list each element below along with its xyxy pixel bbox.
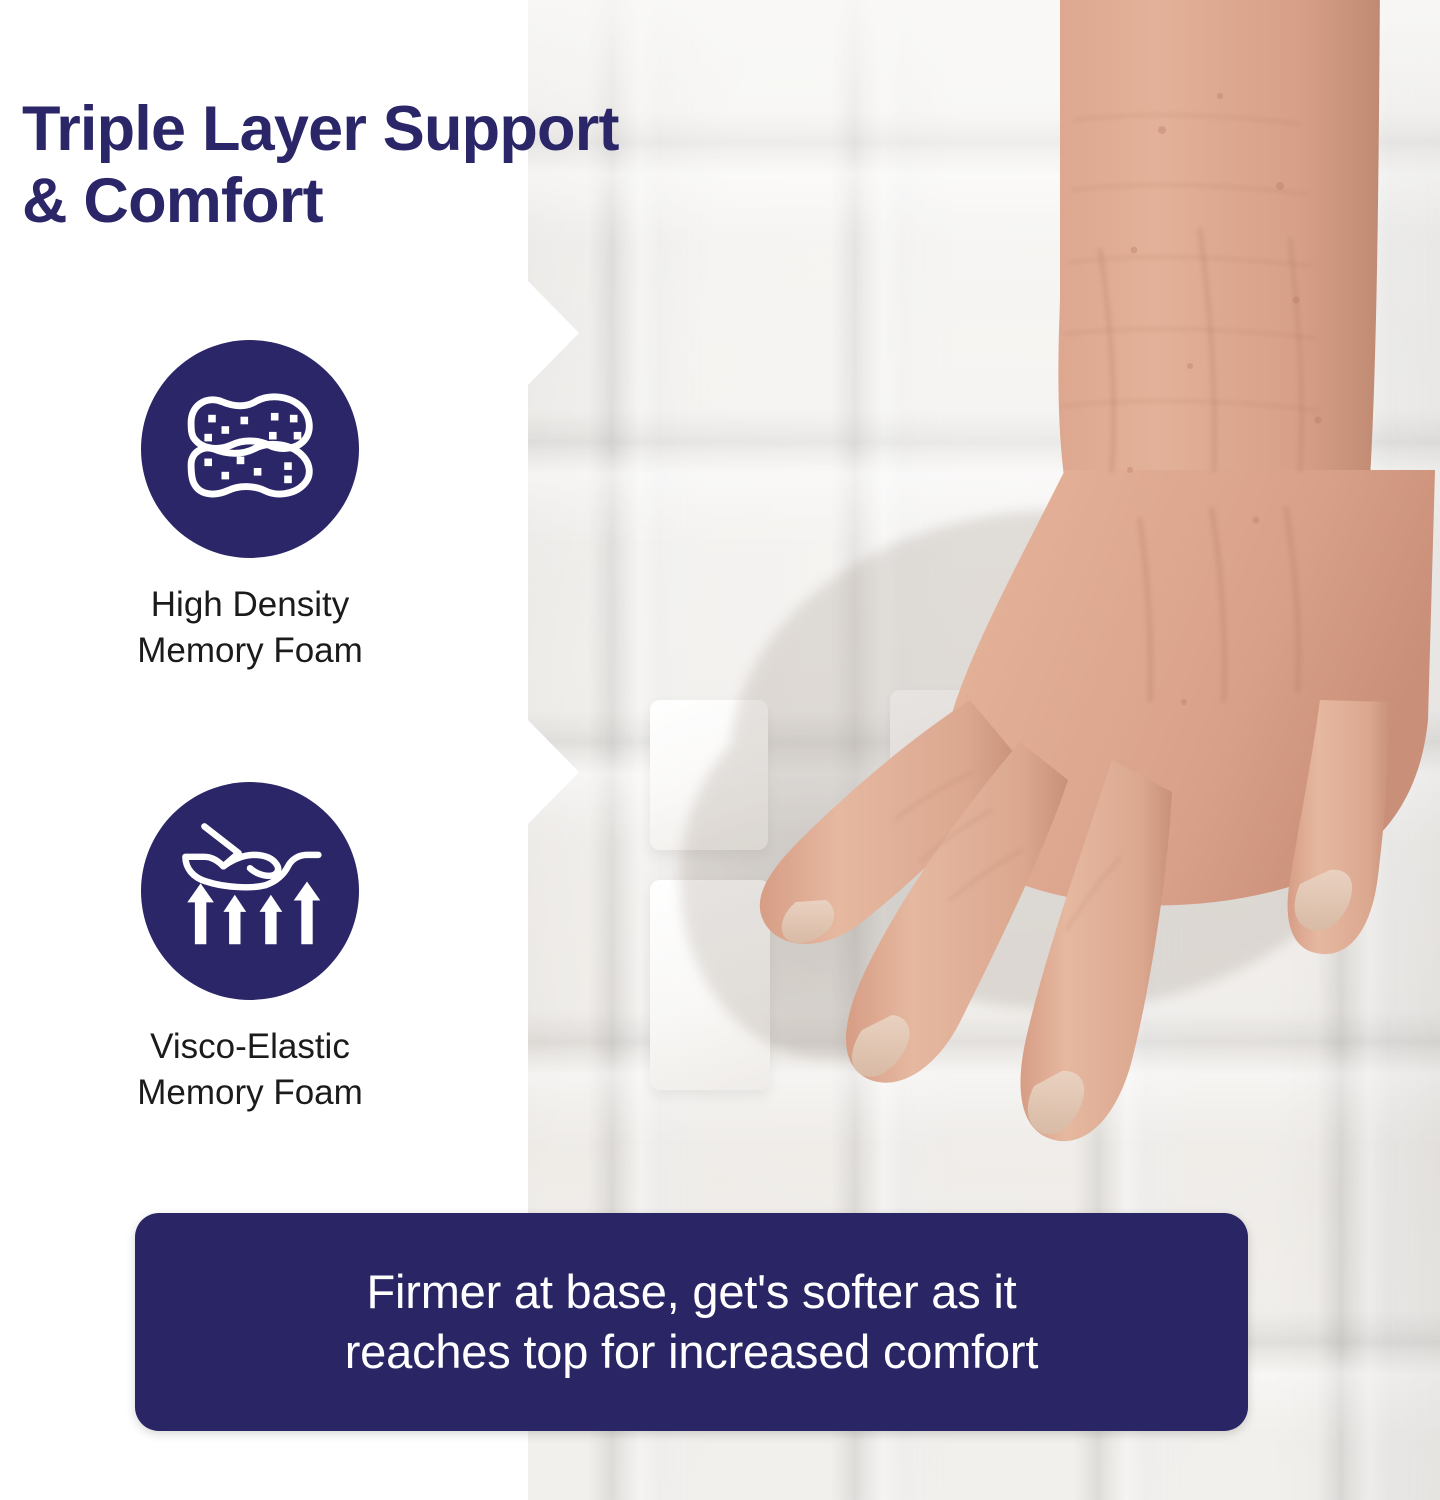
feature-label: Visco-Elastic Memory Foam <box>0 1024 500 1116</box>
page-title: Triple Layer Support & Comfort <box>22 94 922 238</box>
hand-support-arrows-glyph <box>155 796 345 986</box>
marketing-infographic: Triple Layer Support & Comfort <box>0 0 1440 1500</box>
feature-high-density-memory-foam: High Density Memory Foam <box>0 340 500 674</box>
feature-visco-elastic-memory-foam: Visco-Elastic Memory Foam <box>0 782 500 1116</box>
banner-text: Firmer at base, get's softer as it reach… <box>305 1262 1079 1382</box>
memory-foam-block-glyph <box>155 354 345 544</box>
memory-foam-block-icon <box>141 340 359 558</box>
hand-pressing-support-arrows-icon <box>141 782 359 1000</box>
feature-label: High Density Memory Foam <box>0 582 500 674</box>
bottom-callout-banner: Firmer at base, get's softer as it reach… <box>135 1213 1248 1431</box>
